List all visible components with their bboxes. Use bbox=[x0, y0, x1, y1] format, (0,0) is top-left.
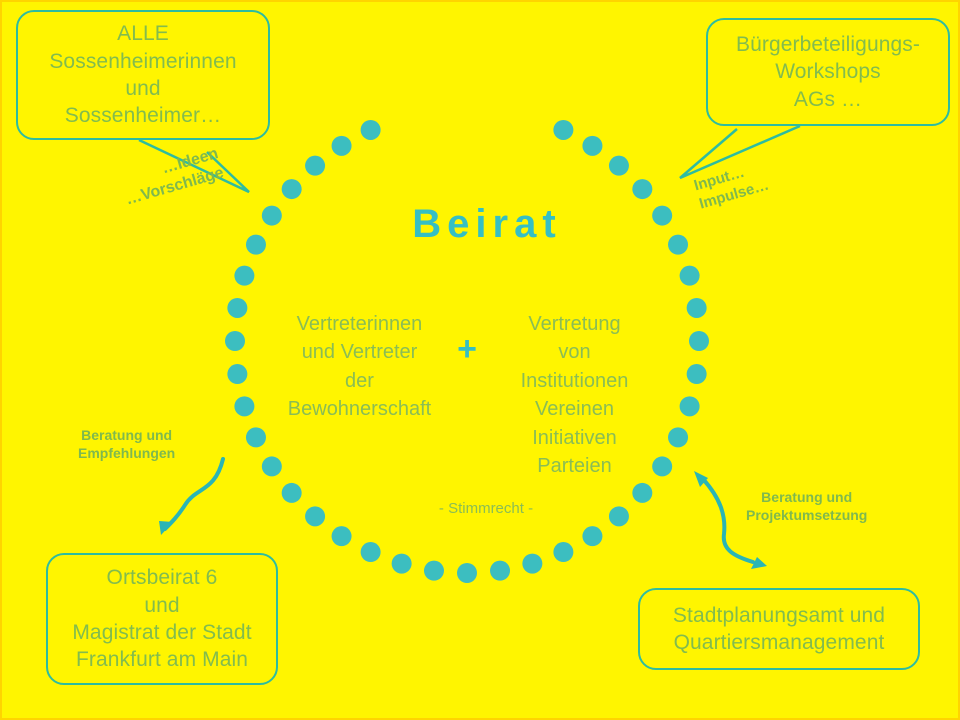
advice-arrow-left bbox=[159, 459, 223, 535]
bubble-workshops[interactable]: Bürgerbeteiligungs- Workshops AGs … bbox=[706, 18, 950, 126]
plus-icon: + bbox=[447, 310, 487, 366]
label-ideen-vorschlaege: …Ideen …Vorschläge bbox=[118, 144, 226, 210]
ring-dot bbox=[305, 156, 325, 176]
beirat-composition: Vertreterinnen und Vertreter der Bewohne… bbox=[262, 310, 672, 480]
ring-dot bbox=[227, 298, 247, 318]
box-ortsbeirat-line-2: und bbox=[56, 592, 268, 619]
composition-right-line-6: Parteien bbox=[537, 455, 612, 477]
ring-dot bbox=[680, 396, 700, 416]
bubble-citizens[interactable]: ALLE Sossenheimerinnen und Sossenheimer… bbox=[16, 10, 270, 140]
page-title: Beirat bbox=[0, 202, 960, 247]
ring-dot bbox=[582, 526, 602, 546]
voting-rights-note: - Stimmrecht - bbox=[0, 500, 960, 517]
ring-dot bbox=[490, 561, 510, 581]
ring-dot bbox=[282, 179, 302, 199]
ring-dot bbox=[632, 179, 652, 199]
ring-dot bbox=[234, 396, 254, 416]
ring-dot bbox=[522, 554, 542, 574]
box-stadtplanungsamt-line-2: Quartiersmanagement bbox=[648, 629, 910, 656]
bubble-workshops-line-1: Bürgerbeteiligungs- bbox=[716, 31, 940, 58]
composition-right-line-3: Institutionen bbox=[521, 370, 629, 392]
ring-dot bbox=[687, 364, 707, 384]
bubble-citizens-line-2: Sossenheimerinnen bbox=[26, 48, 260, 75]
label-beratung-links-line-1: Beratung und bbox=[81, 427, 172, 443]
ring-dot bbox=[457, 563, 477, 583]
box-ortsbeirat-line-4: Frankfurt am Main bbox=[56, 646, 268, 673]
ring-dot bbox=[553, 120, 573, 140]
bubble-workshops-line-2: Workshops bbox=[716, 58, 940, 85]
composition-column-right: Vertretung von Institutionen Vereinen In… bbox=[487, 310, 662, 480]
diagram-canvas: ALLE Sossenheimerinnen und Sossenheimer…… bbox=[0, 0, 960, 720]
ring-dot bbox=[227, 364, 247, 384]
box-stadtplanungsamt-line-1: Stadtplanungsamt und bbox=[648, 602, 910, 629]
composition-left-line-4: Bewohnerschaft bbox=[288, 398, 431, 420]
box-stadtplanungsamt[interactable]: Stadtplanungsamt und Quartiersmanagement bbox=[638, 588, 920, 670]
box-ortsbeirat[interactable]: Ortsbeirat 6 und Magistrat der Stadt Fra… bbox=[46, 553, 278, 685]
ring-dot bbox=[689, 331, 709, 351]
ring-dot bbox=[392, 554, 412, 574]
composition-right-line-4: Vereinen bbox=[535, 398, 614, 420]
composition-right-line-2: von bbox=[558, 341, 590, 363]
bubble-citizens-line-4: Sossenheimer… bbox=[26, 102, 260, 129]
ring-dot bbox=[582, 136, 602, 156]
bubble-citizens-line-1: ALLE bbox=[26, 20, 260, 47]
ring-dot bbox=[332, 526, 352, 546]
ring-dot bbox=[687, 298, 707, 318]
ring-dot bbox=[609, 156, 629, 176]
composition-left-line-2: und Vertreter bbox=[302, 341, 418, 363]
ring-dot bbox=[553, 542, 573, 562]
label-beratung-empfehlungen: Beratung und Empfehlungen bbox=[78, 427, 175, 462]
composition-column-left: Vertreterinnen und Vertreter der Bewohne… bbox=[272, 310, 447, 424]
ring-dot bbox=[680, 266, 700, 286]
ring-dot bbox=[424, 561, 444, 581]
ring-dot bbox=[361, 120, 381, 140]
ring-dot bbox=[332, 136, 352, 156]
composition-right-line-1: Vertretung bbox=[528, 313, 620, 335]
composition-left-line-1: Vertreterinnen bbox=[297, 313, 423, 335]
ring-dot bbox=[234, 266, 254, 286]
box-ortsbeirat-line-1: Ortsbeirat 6 bbox=[56, 564, 268, 591]
ring-dot bbox=[225, 331, 245, 351]
composition-right-line-5: Initiativen bbox=[532, 427, 617, 449]
bubble-workshops-line-3: AGs … bbox=[716, 86, 940, 113]
label-beratung-links-line-2: Empfehlungen bbox=[78, 445, 175, 461]
ring-dot bbox=[361, 542, 381, 562]
bubble-citizens-line-3: und bbox=[26, 75, 260, 102]
box-ortsbeirat-line-3: Magistrat der Stadt bbox=[56, 619, 268, 646]
composition-left-line-3: der bbox=[345, 370, 374, 392]
